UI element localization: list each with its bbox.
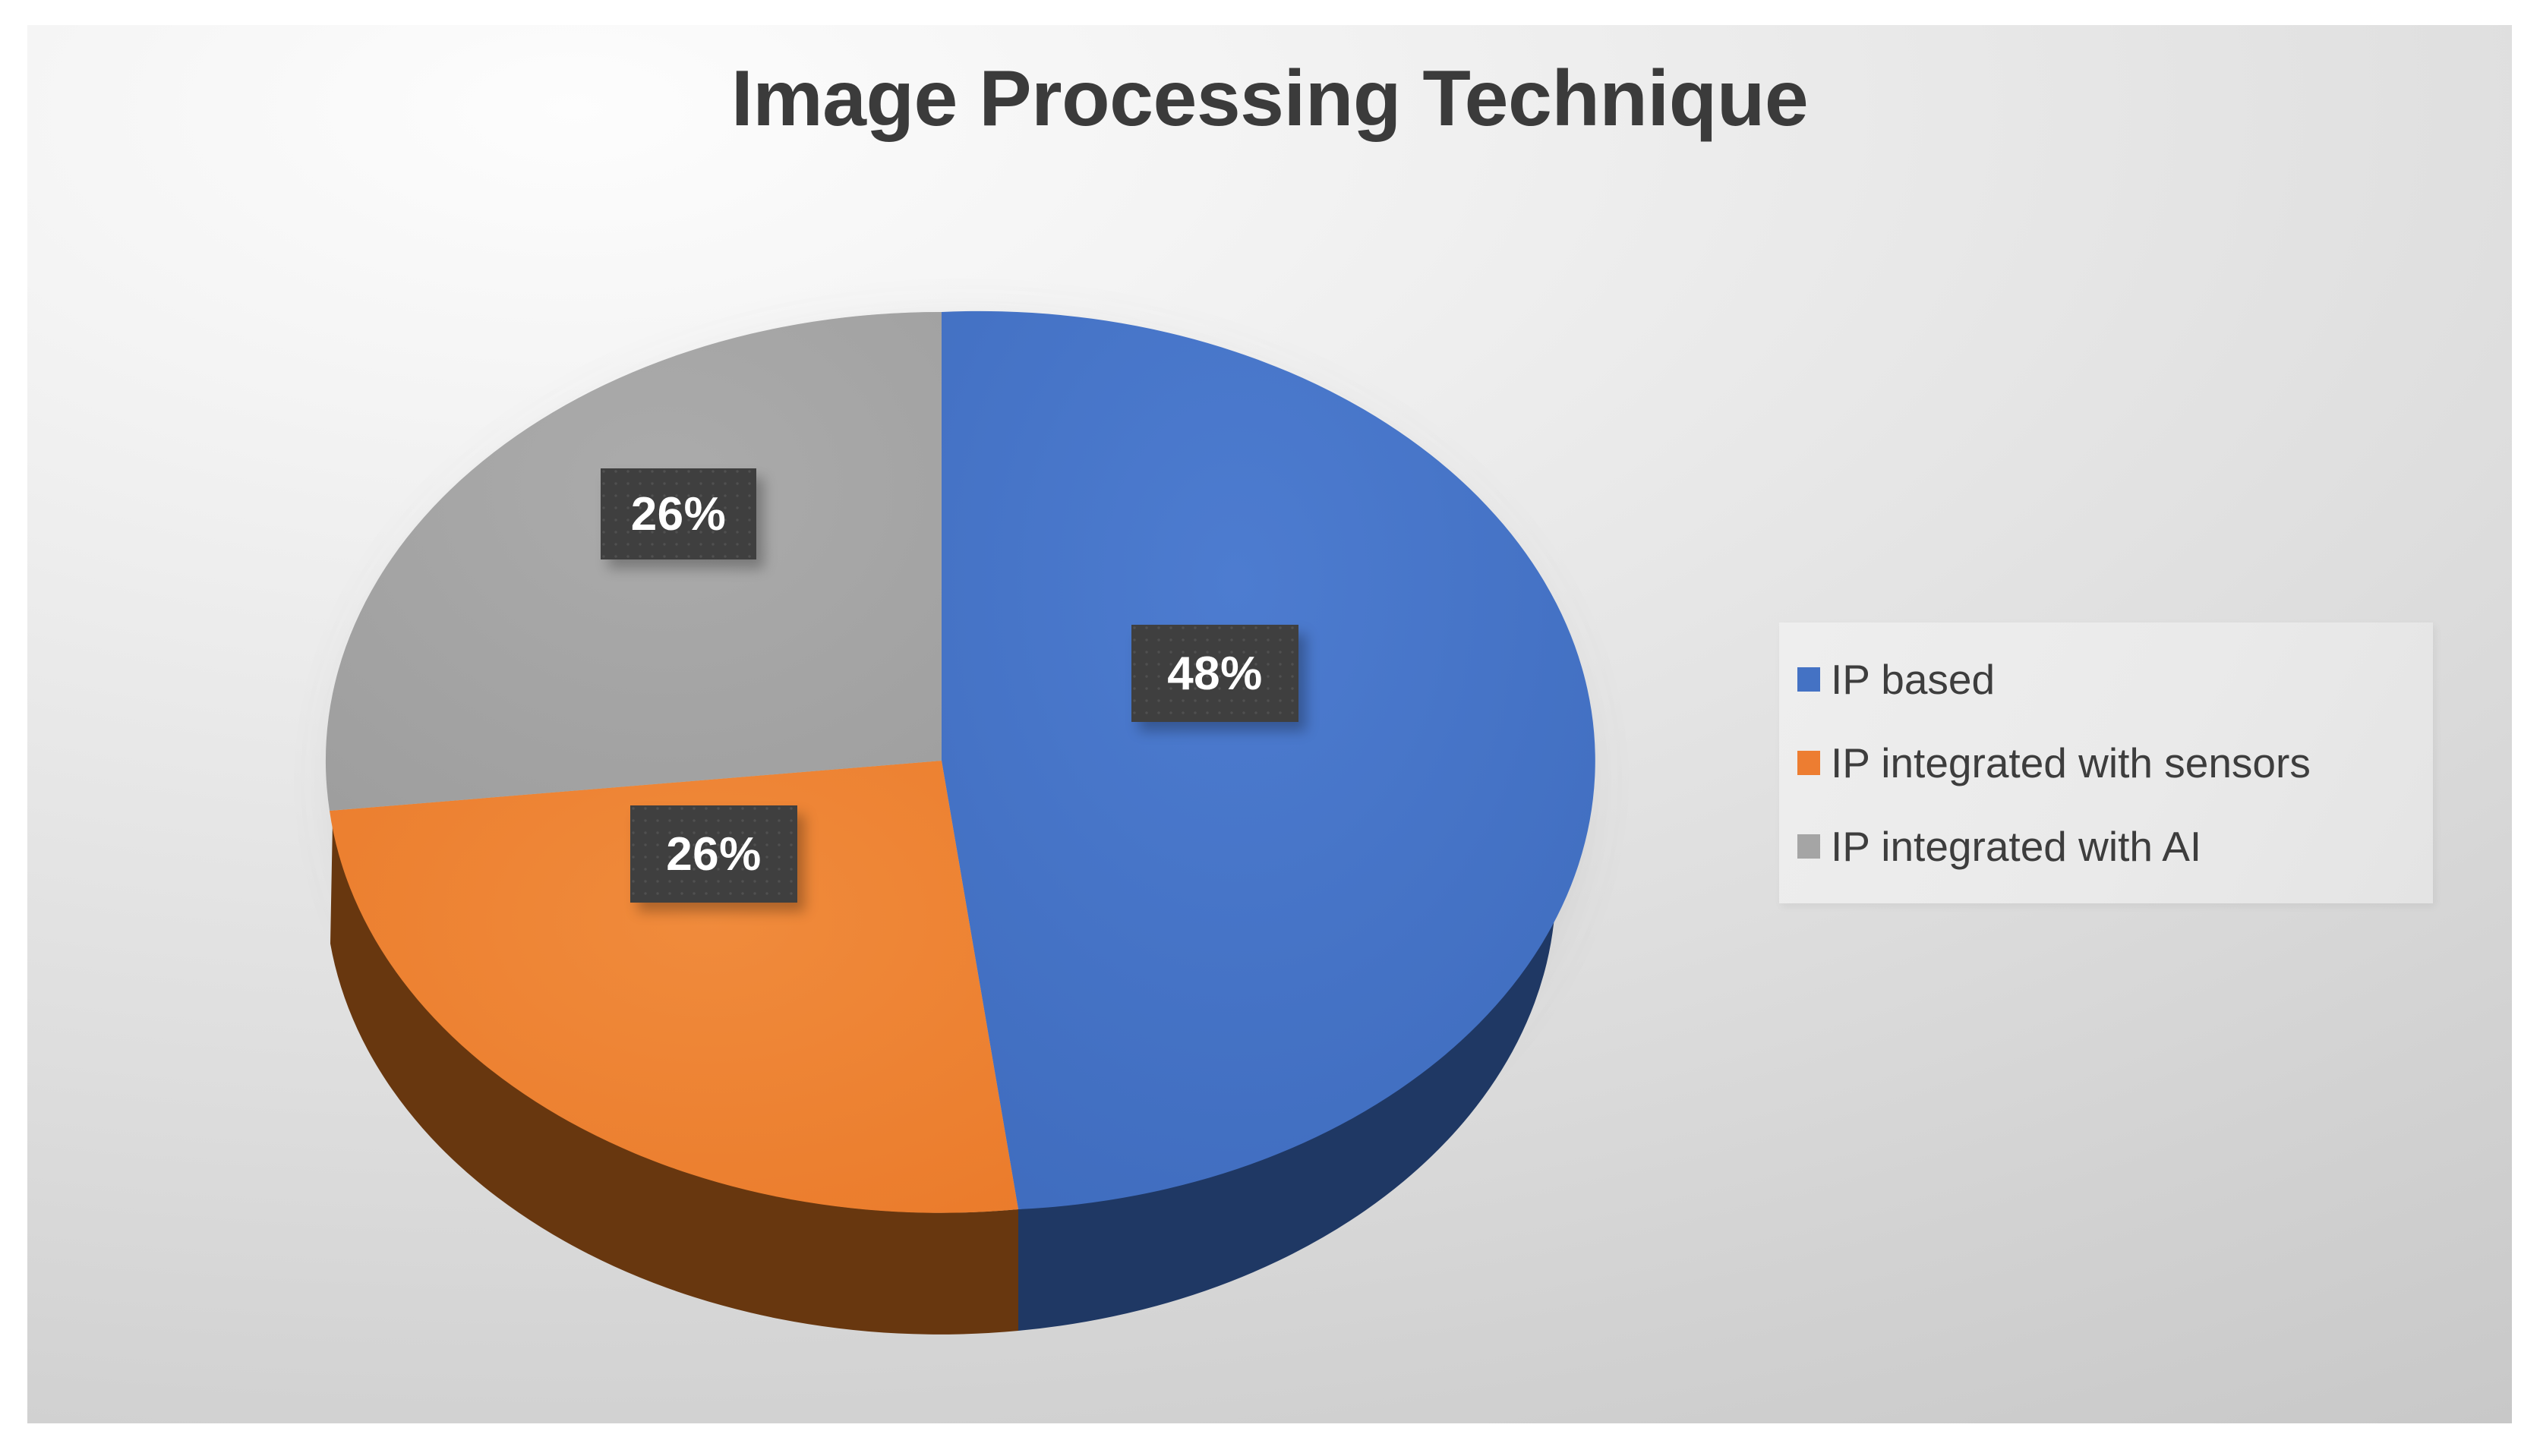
pie-chart-plot-area: 26% 48% 26% — [27, 25, 1774, 1423]
legend-swatch-ip-ai — [1797, 834, 1820, 859]
legend-item-ip-sensors[interactable]: IP integrated with sensors — [1797, 721, 2433, 805]
data-label-ip-based: 48% — [1131, 625, 1298, 722]
legend-label-ip-sensors: IP integrated with sensors — [1831, 742, 2311, 784]
slide-canvas: Image Processing Technique — [0, 0, 2540, 1456]
data-label-ip-ai: 26% — [601, 468, 756, 559]
chart-legend: IP based IP integrated with sensors IP i… — [1779, 622, 2433, 903]
pie-slice-ip-ai[interactable] — [326, 312, 942, 811]
legend-item-ip-ai[interactable]: IP integrated with AI — [1797, 805, 2433, 888]
legend-label-ip-ai: IP integrated with AI — [1831, 826, 2201, 868]
data-label-ip-sensors: 26% — [630, 805, 797, 903]
legend-item-ip-based[interactable]: IP based — [1797, 638, 2433, 721]
pie-chart-svg — [27, 25, 1774, 1423]
legend-swatch-ip-based — [1797, 667, 1820, 692]
legend-label-ip-based: IP based — [1831, 659, 1995, 701]
legend-swatch-ip-sensors — [1797, 751, 1820, 775]
chart-container: Image Processing Technique — [27, 25, 2512, 1423]
